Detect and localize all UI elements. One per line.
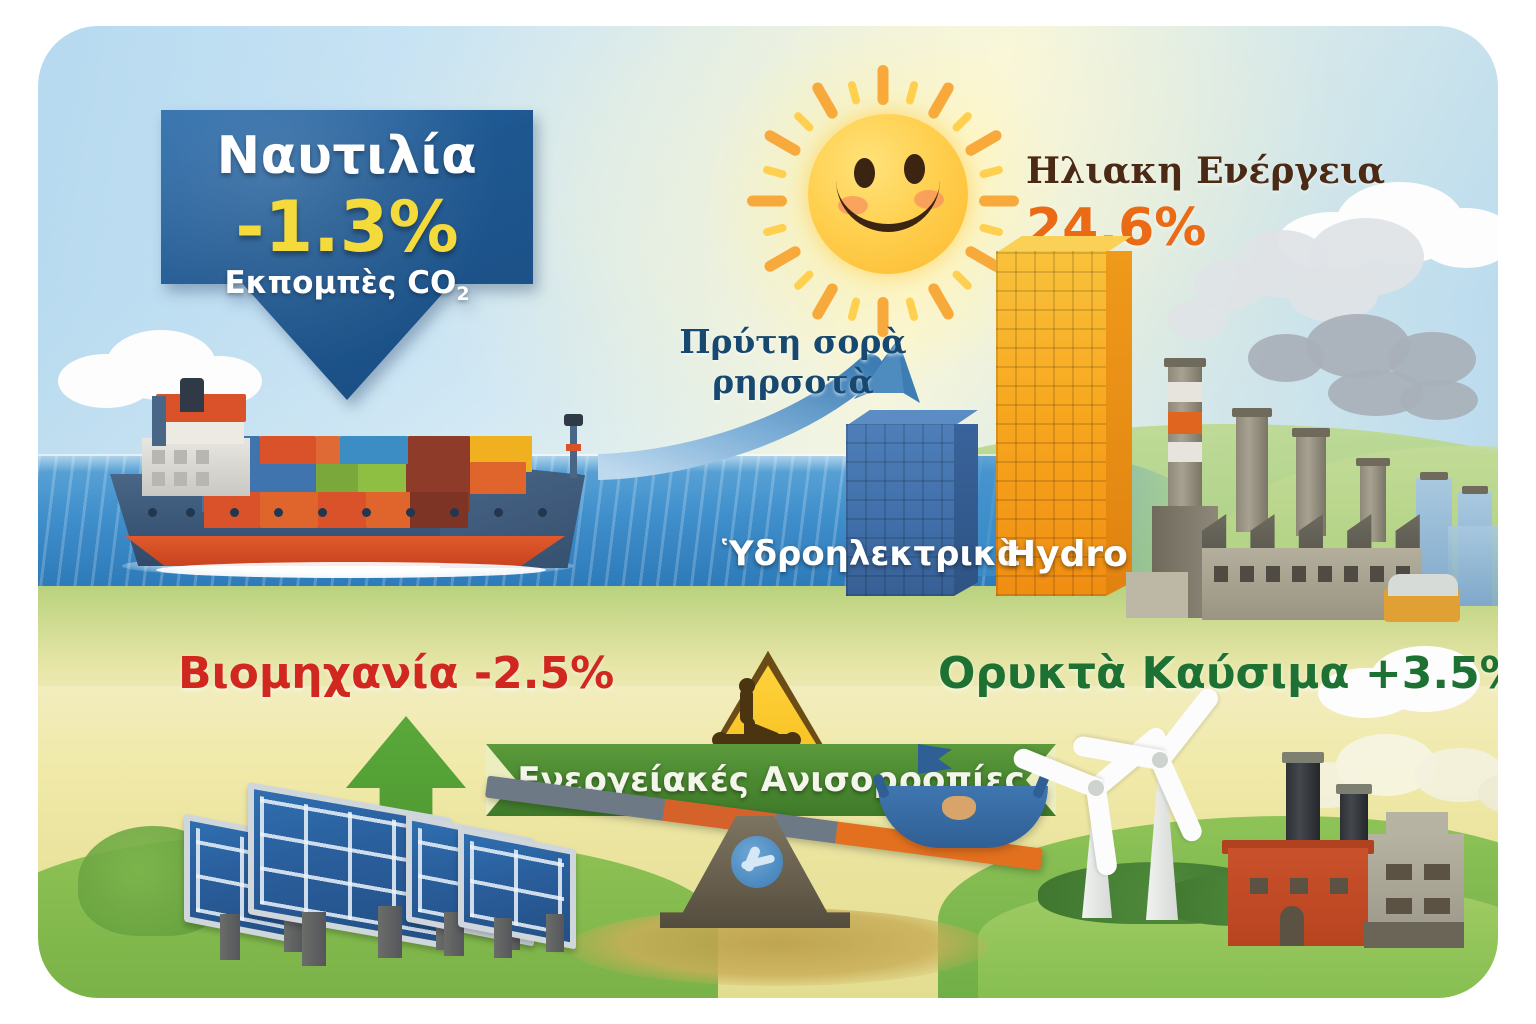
solar-panel-leg bbox=[494, 918, 512, 958]
chimney-band bbox=[1168, 412, 1202, 434]
outbuilding bbox=[1126, 572, 1188, 618]
ship-window bbox=[196, 472, 209, 486]
container-ship-icon bbox=[100, 378, 600, 596]
ship-window bbox=[174, 472, 187, 486]
factory-window bbox=[1386, 864, 1412, 880]
shipping-subtitle-text: Εκπομπὲς CO bbox=[224, 265, 456, 301]
silo-cap bbox=[1420, 472, 1448, 480]
chimney bbox=[1236, 412, 1268, 532]
ship-window bbox=[152, 450, 165, 464]
arrow-annotation-line1: Πρύτη σορὰ bbox=[678, 322, 908, 362]
ship-window bbox=[152, 472, 165, 486]
factory-stack-cap bbox=[1336, 784, 1372, 794]
ship-superstructure bbox=[142, 438, 250, 496]
factory-base bbox=[1364, 922, 1464, 948]
bar-label-hydroelectric: Ὑδροηλεκτρικὰ bbox=[722, 534, 1020, 574]
ship-window bbox=[174, 450, 187, 464]
seesaw-pivot-icon bbox=[731, 836, 783, 888]
shipping-subtitle-subscript: 2 bbox=[456, 283, 469, 305]
factory-window bbox=[1290, 878, 1308, 894]
shipping-value: -1.3% bbox=[161, 186, 533, 268]
ship-mast-top bbox=[564, 414, 583, 426]
turbine-hub bbox=[1152, 752, 1168, 768]
vehicle-roof bbox=[1388, 574, 1458, 596]
arrow-annotation-line2: ρηρσοτὰ bbox=[678, 362, 908, 402]
chimney-cap bbox=[1292, 428, 1330, 437]
factory-smokestack-icon bbox=[1138, 326, 1498, 626]
illustration-canvas: Ηλιακη Ενέργεια 24,6% Πρύτη σορὰ ρηρσοτὰ… bbox=[38, 26, 1498, 998]
factory-door bbox=[1280, 906, 1304, 946]
factory-window bbox=[1424, 864, 1450, 880]
solar-panel-leg bbox=[302, 912, 326, 966]
chimney-band bbox=[1168, 382, 1202, 402]
factory-window bbox=[1250, 878, 1268, 894]
shipping-stat-banner: Ναυτιλία -1.3% Εκπομπὲς CO2 bbox=[161, 110, 533, 400]
factory-windows bbox=[1214, 566, 1410, 582]
industry-stat-label: Βιομηχανία -2.5% bbox=[178, 648, 614, 699]
chimney-band bbox=[1168, 442, 1202, 462]
shipping-subtitle: Εκπομπὲς CO2 bbox=[161, 265, 533, 305]
arrow-annotation: Πρύτη σορὰ ρηρσοτὰ bbox=[678, 322, 908, 403]
turbine-hub bbox=[1088, 780, 1104, 796]
factory-window bbox=[1386, 898, 1412, 914]
chimney-cap bbox=[1356, 458, 1390, 466]
ship-mast-band bbox=[566, 444, 581, 451]
bar-label-hydro: Hydro bbox=[1006, 534, 1128, 575]
ship-foam bbox=[156, 562, 546, 578]
factory-window bbox=[1424, 898, 1450, 914]
solar-panel-leg bbox=[378, 906, 402, 958]
infographic-stage: Ηλιακη Ενέργεια 24,6% Πρύτη σορὰ ρηρσοτὰ… bbox=[0, 0, 1536, 1024]
ship-window bbox=[196, 450, 209, 464]
shipping-title: Ναυτιλία bbox=[161, 126, 533, 186]
solar-panel-leg bbox=[546, 914, 564, 952]
silo-cap bbox=[1462, 486, 1488, 494]
chimney-cap bbox=[1164, 358, 1206, 367]
fossil-fuels-stat-label: Ορυκτὰ Καύσιμα +3.5% bbox=[938, 648, 1498, 699]
chimney-cap bbox=[1232, 408, 1272, 417]
ship-funnel-blue bbox=[152, 396, 166, 446]
factory-stack-cap bbox=[1282, 752, 1324, 763]
hammock-detail bbox=[942, 796, 976, 820]
red-brick-factory-icon bbox=[1228, 806, 1458, 946]
factory-window bbox=[1330, 878, 1348, 894]
solar-energy-title: Ηλιακη Ενέργεια bbox=[1026, 150, 1385, 192]
solar-panel-leg bbox=[220, 914, 240, 960]
ship-portholes bbox=[140, 508, 560, 518]
container bbox=[470, 462, 526, 494]
